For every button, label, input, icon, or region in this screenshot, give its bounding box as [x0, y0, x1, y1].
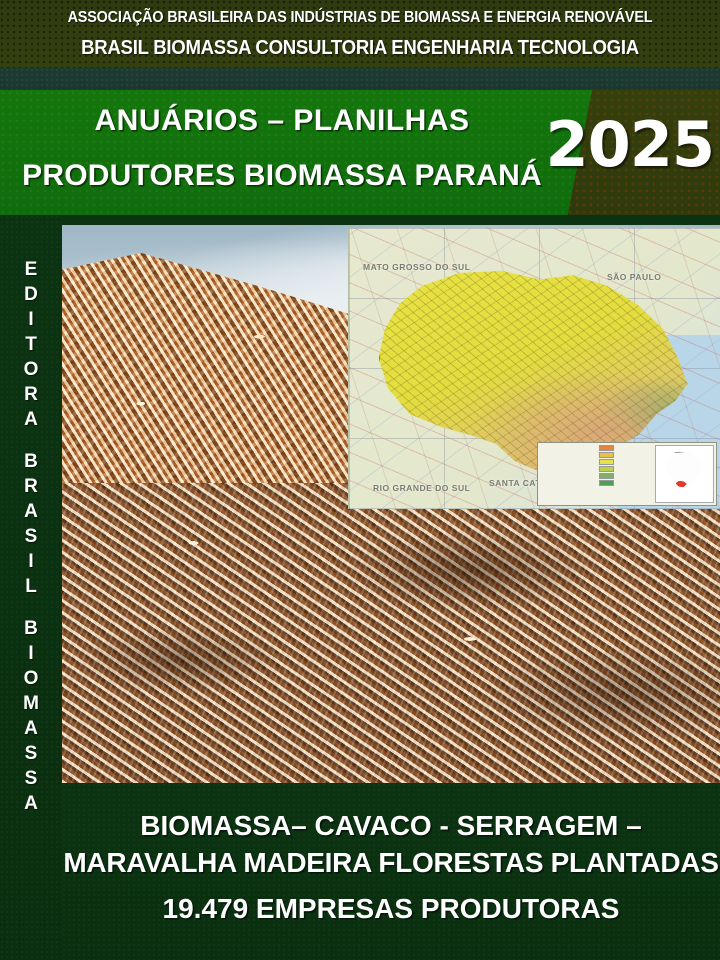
- sidebar-letter: O: [24, 666, 39, 691]
- map-legend: [537, 442, 717, 506]
- legend-altitude-column: [596, 443, 654, 505]
- legend-altitude-swatch: [599, 473, 614, 479]
- header-company-name: BRASIL BIOMASSA CONSULTORIA ENGENHARIA T…: [25, 37, 695, 60]
- sidebar-letter: I: [28, 307, 33, 332]
- banner-title-line2: PRODUTORES BIOMASSA PARANÁ: [0, 159, 564, 193]
- banner-title-line1: ANUÁRIOS – PLANILHAS: [0, 104, 564, 138]
- sidebar-letter: S: [25, 766, 38, 791]
- sidebar-letter: R: [24, 382, 38, 407]
- sidebar-letter: D: [24, 282, 38, 307]
- sidebar-letter: L: [25, 574, 37, 599]
- publisher-sidebar: EDITORABRASILBIOMASSA: [0, 215, 62, 960]
- sidebar-letter: O: [24, 357, 39, 382]
- sidebar-letter: A: [24, 407, 38, 432]
- caption-line3: 19.479 EMPRESAS PRODUTORAS: [62, 893, 720, 925]
- legend-altitude-swatch: [599, 459, 614, 465]
- org-header: ASSOCIAÇÃO BRASILEIRA DAS INDÚSTRIAS DE …: [0, 0, 720, 68]
- sidebar-letter: B: [24, 449, 38, 474]
- map-label-mato-grosso-do-sul: MATO GROSSO DO SUL: [363, 262, 470, 272]
- sidebar-letter: A: [24, 499, 38, 524]
- sidebar-letter: M: [23, 691, 39, 716]
- header-divider-band: [0, 68, 720, 90]
- sidebar-letter: I: [28, 549, 33, 574]
- caption-line2: MARAVALHA MADEIRA FLORESTAS PLANTADAS: [62, 847, 720, 879]
- header-association-name: ASSOCIAÇÃO BRASILEIRA DAS INDÚSTRIAS DE …: [25, 9, 695, 27]
- sidebar-letter: B: [24, 616, 38, 641]
- brazil-locator-inset: [655, 445, 714, 503]
- map-label-sao-paulo: SÃO PAULO: [607, 272, 661, 282]
- sidebar-letter: A: [24, 791, 38, 816]
- caption-line1: BIOMASSA– CAVACO - SERRAGEM –: [62, 810, 720, 842]
- parana-map-inset: MATO GROSSO DO SUL SÃO PAULO SANTA CATAR…: [348, 228, 720, 509]
- banner-year: 2025: [545, 114, 714, 176]
- sidebar-letter: E: [25, 257, 38, 282]
- brazil-outline: [663, 452, 708, 489]
- map-label-rio-grande-do-sul: RIO GRANDE DO SUL: [373, 483, 470, 493]
- cover-page: ASSOCIAÇÃO BRASILEIRA DAS INDÚSTRIAS DE …: [0, 0, 720, 960]
- title-banner: ANUÁRIOS – PLANILHAS PRODUTORES BIOMASSA…: [0, 90, 720, 215]
- legend-symbols-column: [538, 443, 596, 505]
- legend-altitude-swatch: [599, 466, 614, 472]
- legend-altitude-swatch: [599, 480, 614, 486]
- sidebar-letter: S: [25, 741, 38, 766]
- sidebar-letter: R: [24, 474, 38, 499]
- photo-woodchip-floor: [62, 483, 720, 783]
- legend-altitude-swatch: [599, 452, 614, 458]
- sidebar-letter: S: [25, 524, 38, 549]
- sidebar-letter: I: [28, 641, 33, 666]
- sidebar-letter: A: [24, 716, 38, 741]
- legend-altitude-swatch: [599, 445, 614, 451]
- sidebar-letter: T: [25, 332, 37, 357]
- bottom-caption: BIOMASSA– CAVACO - SERRAGEM – MARAVALHA …: [62, 783, 720, 960]
